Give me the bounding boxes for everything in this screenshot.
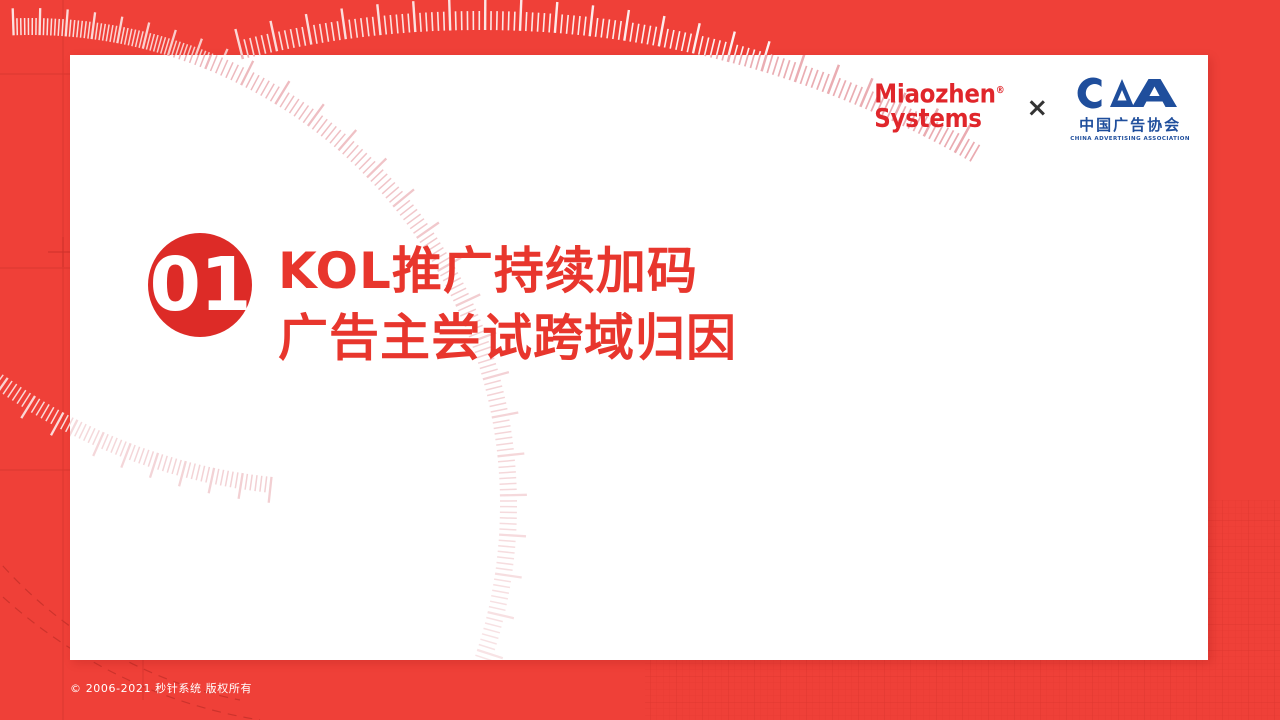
china-advertising-association-logo: 中国广告协会 CHINA ADVERTISING ASSOCIATION [1070,73,1190,142]
section-number-label: 01 [150,248,251,322]
title-line-1: KOL推广持续加码 [278,238,737,305]
title-lines: KOL推广持续加码 广告主尝试跨域归因 [278,238,737,372]
section-number-badge: 01 [148,233,252,337]
caa-english-name: CHINA ADVERTISING ASSOCIATION [1070,136,1190,142]
multiply-icon: × [1026,95,1048,121]
headline-block: 01 KOL推广持续加码 广告主尝试跨域归因 [148,230,737,372]
miaozhen-logo-line2: Systems [874,108,1004,133]
presentation-slide: Miaozhen® Systems × 中国广告协会 CHINA ADVERTI… [0,0,1280,720]
miaozhen-logo-line1: Miaozhen® [874,83,1004,108]
content-card: Miaozhen® Systems × 中国广告协会 CHINA ADVERTI… [70,55,1208,660]
caa-mark-icon [1070,73,1178,113]
miaozhen-systems-logo: Miaozhen® Systems [874,83,1004,132]
tick-arc-pink-b [235,55,979,161]
caa-chinese-name: 中国广告协会 [1070,114,1190,135]
registered-trademark-icon: ® [996,85,1005,96]
logo-bar: Miaozhen® Systems × 中国广告协会 CHINA ADVERTI… [874,73,1190,142]
title-line-2: 广告主尝试跨域归因 [278,305,737,372]
copyright-footer: © 2006-2021 秒针系统 版权所有 [70,680,252,696]
